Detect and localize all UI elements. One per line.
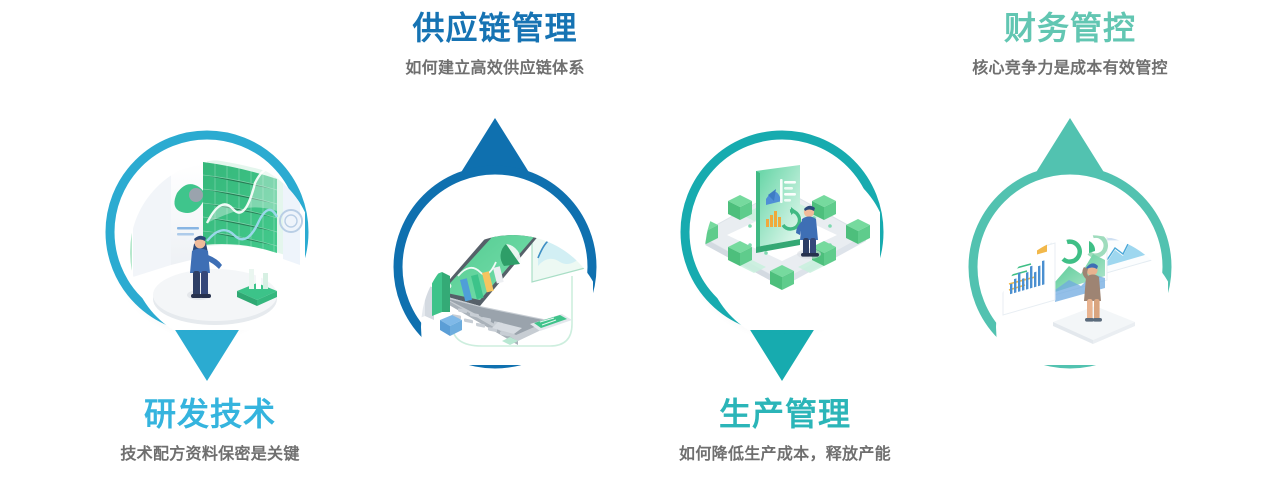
map-pin-icon — [670, 115, 900, 385]
pin-marker-supply-chain[interactable] — [380, 110, 610, 380]
label-block-rd-technology: 研发技术 技术配方资料保密是关键 — [60, 394, 360, 466]
map-pin-icon — [95, 115, 325, 385]
map-pin-icon — [955, 110, 1185, 380]
pin-marker-rd-technology[interactable] — [95, 115, 325, 385]
item-title: 研发技术 — [60, 394, 360, 434]
label-block-production-management: 生产管理 如何降低生产成本，释放产能 — [635, 394, 935, 466]
pin-marker-production-management[interactable] — [670, 115, 900, 385]
infographic-item-financial-control[interactable]: 财务管控 核心竞争力是成本有效管控 — [920, 0, 1220, 488]
item-subtitle: 如何建立高效供应链体系 — [345, 56, 645, 80]
item-title: 财务管控 — [920, 8, 1220, 48]
item-subtitle: 如何降低生产成本，释放产能 — [635, 442, 935, 466]
item-title: 生产管理 — [635, 394, 935, 434]
item-subtitle: 技术配方资料保密是关键 — [60, 442, 360, 466]
item-subtitle: 核心竞争力是成本有效管控 — [920, 56, 1220, 80]
infographic-item-rd-technology[interactable]: 研发技术 技术配方资料保密是关键 — [60, 0, 360, 488]
item-title: 供应链管理 — [345, 8, 645, 48]
infographic-item-production-management[interactable]: 生产管理 如何降低生产成本，释放产能 — [635, 0, 935, 488]
pin-marker-financial-control[interactable] — [955, 110, 1185, 380]
map-pin-icon — [380, 110, 610, 380]
infographic-root: 研发技术 技术配方资料保密是关键 — [0, 0, 1263, 488]
label-block-financial-control: 财务管控 核心竞争力是成本有效管控 — [920, 8, 1220, 80]
label-block-supply-chain: 供应链管理 如何建立高效供应链体系 — [345, 8, 645, 80]
infographic-item-supply-chain[interactable]: 供应链管理 如何建立高效供应链体系 — [345, 0, 645, 488]
